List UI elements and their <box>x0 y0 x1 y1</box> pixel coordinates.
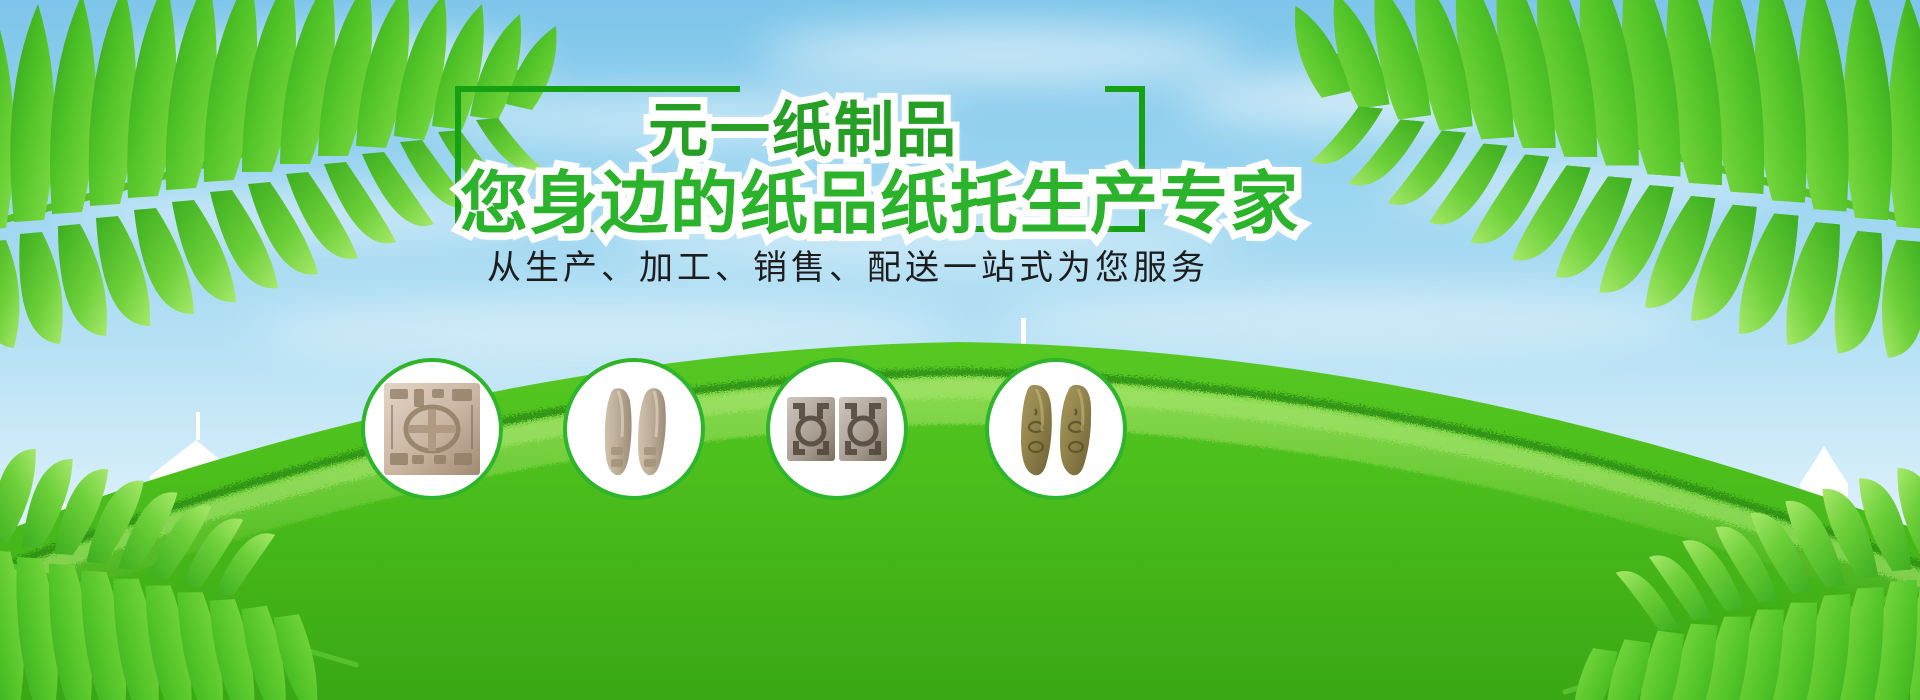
product-circle-4[interactable] <box>985 358 1127 500</box>
paper-pulp-shoe-insert-icon <box>1002 375 1110 483</box>
green-hill <box>0 280 1920 700</box>
tagline-text: 从生产、加工、销售、配送一站式为您服务 <box>487 240 1209 289</box>
product-circle-3[interactable] <box>766 358 908 500</box>
paper-pulp-tray-square-icon <box>378 375 486 483</box>
paper-pulp-shoe-tree-icon <box>580 375 688 483</box>
product-circle-2[interactable] <box>563 358 705 500</box>
headline-text: 您身边的纸品纸托生产专家 <box>460 148 1300 247</box>
paper-pulp-corner-pair-icon <box>783 375 891 483</box>
promo-banner: 元一纸制品 元一纸制品 您身边的纸品纸托生产专家 您身边的纸品纸托生产专家 从生… <box>0 0 1920 700</box>
product-circle-1[interactable] <box>361 358 503 500</box>
